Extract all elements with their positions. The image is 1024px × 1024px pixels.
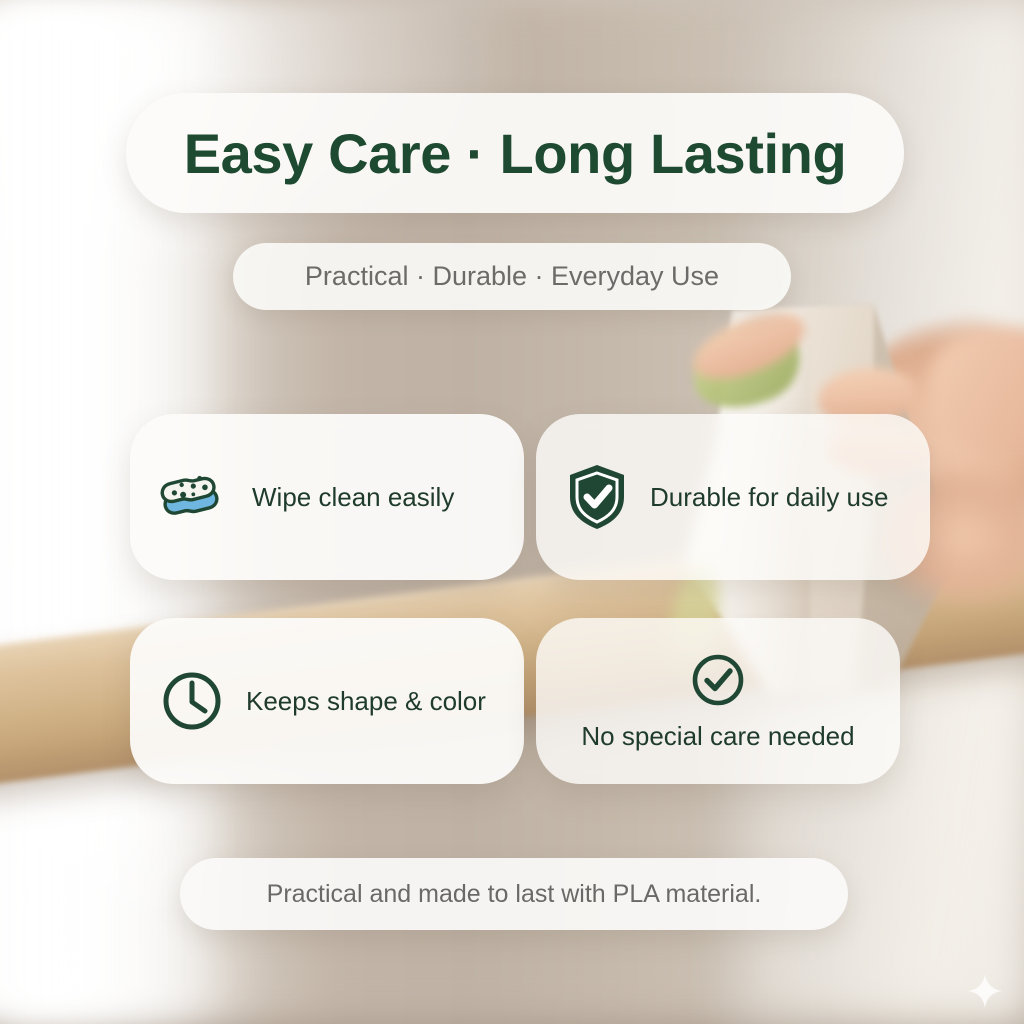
infographic-canvas: Easy Care · Long Lasting Practical · Dur… bbox=[0, 0, 1024, 1024]
sparkle-icon bbox=[966, 972, 1004, 1010]
feature-card-wipe-clean[interactable]: Wipe clean easily bbox=[130, 414, 524, 580]
feature-card-no-special-care[interactable]: No special care needed bbox=[536, 618, 900, 784]
feature-label: Durable for daily use bbox=[650, 482, 888, 513]
feature-label: Wipe clean easily bbox=[252, 482, 454, 513]
shield-check-icon bbox=[566, 462, 628, 532]
footer-pill: Practical and made to last with PLA mate… bbox=[180, 858, 848, 930]
clock-icon bbox=[160, 669, 224, 733]
page-title: Easy Care · Long Lasting bbox=[184, 121, 847, 186]
page-subtitle: Practical · Durable · Everyday Use bbox=[305, 261, 719, 292]
feature-label: No special care needed bbox=[581, 721, 854, 752]
subtitle-pill: Practical · Durable · Everyday Use bbox=[233, 243, 791, 310]
feature-card-durable-daily[interactable]: Durable for daily use bbox=[536, 414, 930, 580]
footer-caption: Practical and made to last with PLA mate… bbox=[267, 880, 762, 909]
sponge-icon bbox=[160, 466, 230, 528]
feature-label: Keeps shape & color bbox=[246, 686, 486, 717]
title-pill: Easy Care · Long Lasting bbox=[126, 93, 904, 213]
check-circle-icon bbox=[689, 651, 747, 709]
feature-card-keeps-shape[interactable]: Keeps shape & color bbox=[130, 618, 524, 784]
